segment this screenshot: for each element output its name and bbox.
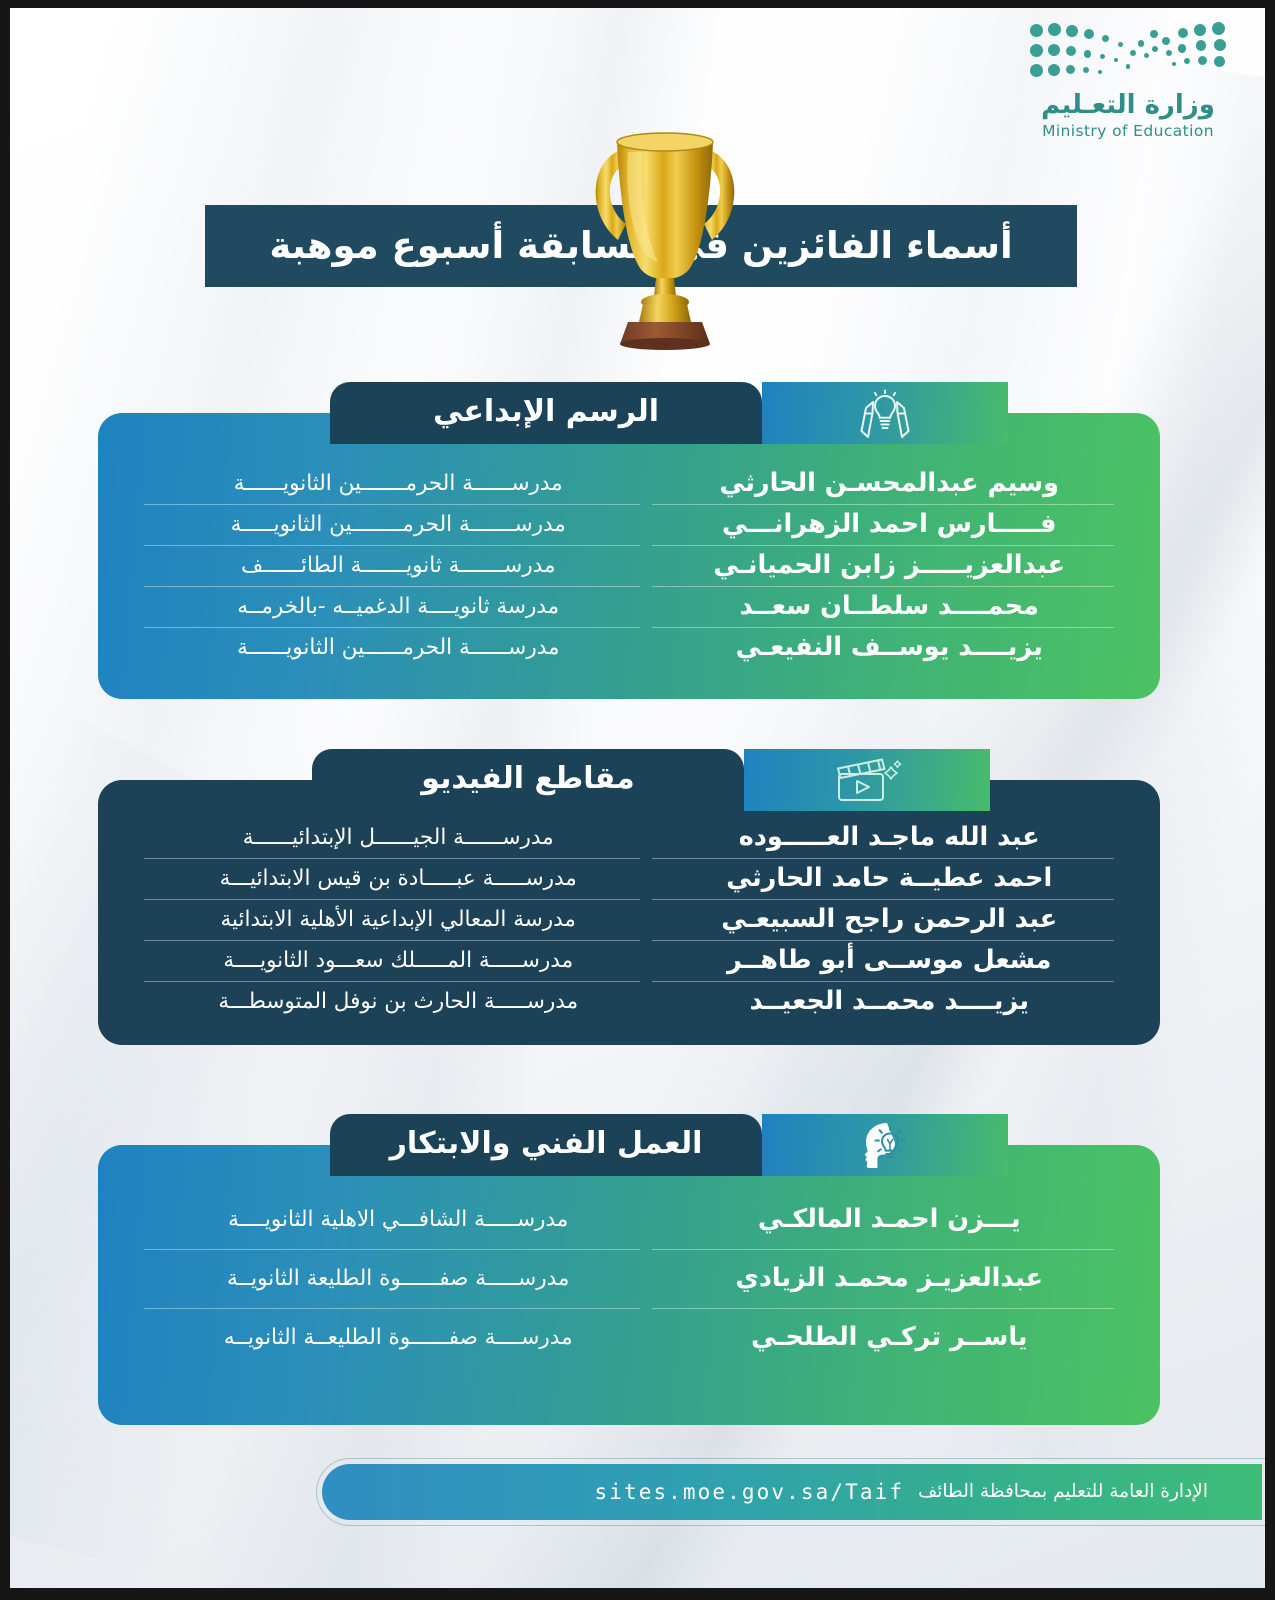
footer-authority-text: الإدارة العامة للتعليم بمحافظة الطائف — [918, 1483, 1208, 1502]
section-card-creative-drawing: الرسم الإبداعي وسيم عبدالمحسـن الحارثي م… — [98, 413, 1160, 699]
table-row: عبدالعزيـــــز زابن الحميانـي مدرســــــ… — [98, 546, 1160, 586]
section-icon-creative-drawing — [762, 382, 1008, 444]
row-divider — [98, 504, 1160, 505]
table-row: عبد الله ماجـد العـــــوده مدرســــــة ا… — [98, 818, 1160, 858]
winner-name: عبدالعزيـــــز زابن الحميانـي — [658, 553, 1120, 579]
winner-school: مدرســــة صفــــــوة الطليعــة الثانويــ… — [138, 1327, 658, 1349]
table-row: وسيم عبدالمحسـن الحارثي مدرســــــة الحر… — [98, 464, 1160, 504]
table-row: مشعل موســى أبو طاهــر مدرســـــة المـــ… — [98, 941, 1160, 981]
winner-name: احمد عطيــة حامد الحارثي — [658, 866, 1120, 892]
winners-list-video-clips: عبد الله ماجـد العـــــوده مدرســــــة ا… — [98, 818, 1160, 1022]
winner-school: مدرســــــة الحرمــــــين الثانويــــــة — [138, 637, 658, 659]
row-divider — [98, 940, 1160, 941]
winner-school: مدرســـــة الحارث بن نوفل المتوسطـــة — [138, 991, 658, 1013]
winner-school: مدرســـــــة ثانويـــــــة الطائــــــف — [138, 555, 658, 577]
winner-school: مدرســـــة عبـــــادة بن قيس الابتدائيــ… — [138, 868, 658, 890]
film-clapperboard-icon — [829, 756, 905, 804]
winner-school: مدرســــــة الحرمـــــــين الثانويــــــ… — [138, 473, 658, 495]
winner-school: مدرســـــة المـــــلك سعـــود الثانويـــ… — [138, 950, 658, 972]
section-header-artwork-innovation: العمل الفني والابتكار — [330, 1114, 762, 1176]
section-icon-artwork-innovation — [762, 1114, 1008, 1176]
row-divider — [98, 627, 1160, 628]
winner-school: مدرسة ثانويــــة الدغميــه -بالخرمــه — [138, 596, 658, 618]
table-row: فـــــارس احمد الزهرانـــي مدرســـــــة … — [98, 505, 1160, 545]
row-divider — [98, 586, 1160, 587]
winner-name: عبدالعزيـز محمـد الزيادي — [658, 1266, 1120, 1292]
table-row: محمــــد سلطــان سعــد مدرسة ثانويــــة … — [98, 587, 1160, 627]
footer-website-url[interactable]: sites.moe.gov.sa/Taif — [594, 1482, 904, 1503]
section-card-artwork-innovation: العمل الفني والابتكار يـــزن احمـد المال… — [98, 1145, 1160, 1425]
row-divider — [98, 858, 1160, 859]
ministry-of-education-logo: وزارة التعـليم Ministry of Education — [1013, 20, 1243, 140]
footer-bar: الإدارة العامة للتعليم بمحافظة الطائف si… — [322, 1464, 1262, 1520]
winner-name: محمــــد سلطــان سعــد — [658, 594, 1120, 620]
winner-school: مدرســـــة الشافـــي الاهلية الثانويــــ… — [138, 1209, 658, 1231]
winner-name: يزيــــد محمــد الجعيــد — [658, 989, 1120, 1015]
logo-english-text: Ministry of Education — [1013, 122, 1243, 140]
table-row: عبدالعزيـز محمـد الزيادي مدرســـــة صفــ… — [98, 1250, 1160, 1308]
head-lightbulb-icon — [857, 1119, 913, 1171]
winner-name: عبد الرحمن راجح السبيعـي — [658, 907, 1120, 933]
winner-school: مدرســــــة الجيــــــل الإبتدائيــــــة — [138, 827, 658, 849]
row-divider — [98, 545, 1160, 546]
page-frame: وزارة التعـليم Ministry of Education — [0, 0, 1275, 1600]
winner-name: مشعل موســى أبو طاهــر — [658, 948, 1120, 974]
table-row: يـــزن احمـد المالكـي مدرســـــة الشافــ… — [98, 1191, 1160, 1249]
section-title-text: مقاطع الفيديو — [421, 764, 634, 794]
logo-arabic-text: وزارة التعـليم — [1013, 92, 1243, 119]
winner-school: مدرســـــــة الحرمــــــــين الثانويــــ… — [138, 514, 658, 536]
moe-dots-logo-icon — [1026, 20, 1231, 86]
table-row: احمد عطيــة حامد الحارثي مدرســـــة عبــ… — [98, 859, 1160, 899]
section-card-video-clips: مقاطع الفيديو عبد الله ماجـد العـــــوده… — [98, 780, 1160, 1045]
section-header-video-clips: مقاطع الفيديو — [312, 749, 744, 811]
row-divider — [98, 1308, 1160, 1309]
winner-name: عبد الله ماجـد العـــــوده — [658, 825, 1120, 851]
section-icon-video-clips — [744, 749, 990, 811]
winner-name: يزيــــد يوســف النفيعـي — [658, 635, 1120, 661]
winners-list-artwork-innovation: يـــزن احمـد المالكـي مدرســـــة الشافــ… — [98, 1191, 1160, 1367]
table-row: يزيــــد محمــد الجعيــد مدرســـــة الحا… — [98, 982, 1160, 1022]
section-title-text: الرسم الإبداعي — [433, 397, 659, 427]
table-row: ياســر تركـي الطلحـي مدرســــة صفــــــو… — [98, 1309, 1160, 1367]
section-title-text: العمل الفني والابتكار — [390, 1129, 703, 1159]
winner-name: وسيم عبدالمحسـن الحارثي — [658, 471, 1120, 497]
lightbulb-pencils-icon — [856, 387, 914, 439]
winner-name: ياســر تركـي الطلحـي — [658, 1325, 1120, 1351]
gold-trophy-icon — [570, 120, 760, 350]
row-divider — [98, 899, 1160, 900]
winner-name: يـــزن احمـد المالكـي — [658, 1207, 1120, 1233]
winners-list-creative-drawing: وسيم عبدالمحسـن الحارثي مدرســــــة الحر… — [98, 464, 1160, 668]
section-header-creative-drawing: الرسم الإبداعي — [330, 382, 762, 444]
table-row: عبد الرحمن راجح السبيعـي مدرسة المعالي ا… — [98, 900, 1160, 940]
table-row: يزيــــد يوســف النفيعـي مدرســــــة الح… — [98, 628, 1160, 668]
winner-school: مدرســـــة صفــــــوة الطليعة الثانويــة — [138, 1268, 658, 1290]
winner-name: فـــــارس احمد الزهرانـــي — [658, 512, 1120, 538]
winner-school: مدرسة المعالي الإبداعية الأهلية الابتدائ… — [138, 909, 658, 931]
row-divider — [98, 981, 1160, 982]
poster-sheet: وزارة التعـليم Ministry of Education — [10, 8, 1265, 1588]
row-divider — [98, 1249, 1160, 1250]
